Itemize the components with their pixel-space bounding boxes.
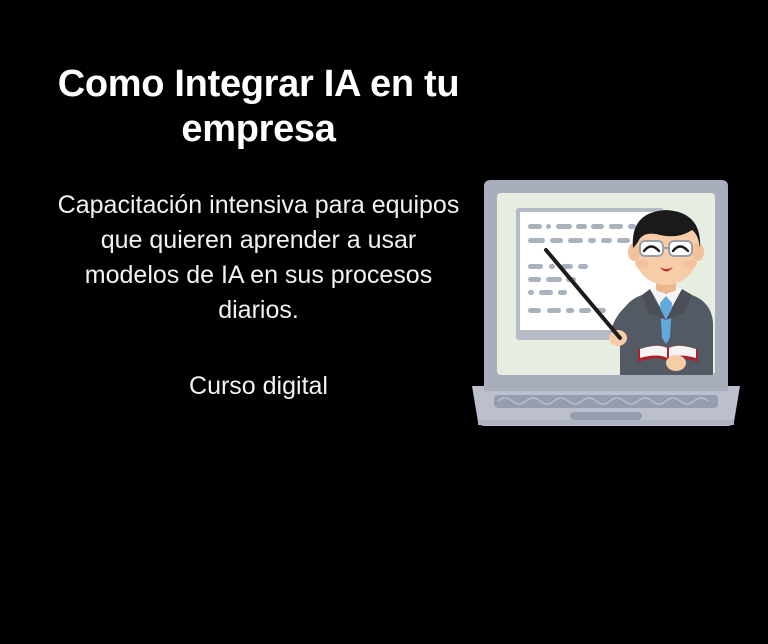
- presenter-hand-book: [666, 355, 686, 371]
- laptop-keyboard: [494, 395, 718, 408]
- laptop-trackpad: [570, 412, 642, 420]
- laptop-front-lip: [478, 420, 734, 425]
- page-title: Como Integrar IA en tu empresa: [36, 62, 481, 152]
- presenter-ear-right: [692, 243, 704, 261]
- text-column: Como Integrar IA en tu empresa Capacitac…: [36, 62, 481, 402]
- laptop-illustration-svg: [470, 172, 742, 430]
- presenter-cheek-right: [683, 260, 697, 268]
- course-format-label: Curso digital: [36, 370, 481, 403]
- presenter-cheek-left: [635, 260, 649, 268]
- laptop-hinge: [484, 386, 728, 391]
- laptop-presenter-illustration: [470, 172, 742, 430]
- slide-root: Como Integrar IA en tu empresa Capacitac…: [0, 0, 768, 644]
- subtitle-description: Capacitación intensiva para equipos que …: [36, 188, 481, 328]
